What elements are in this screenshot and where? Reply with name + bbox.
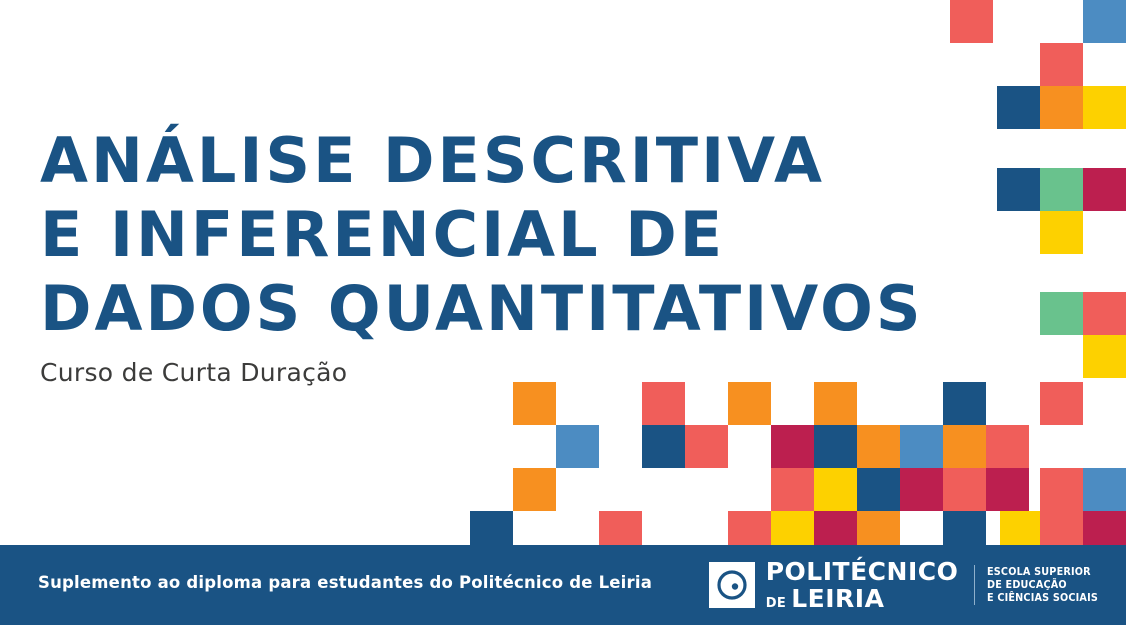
mosaic-tile (814, 468, 857, 511)
mosaic-tile (814, 425, 857, 468)
mosaic-tile (1083, 168, 1126, 211)
mosaic-tile (771, 468, 814, 511)
mosaic-tile (943, 382, 986, 425)
mosaic-tile (986, 425, 1029, 468)
mosaic-tile (943, 468, 986, 511)
title-line-2: E INFERENCIAL DE (40, 198, 1020, 272)
school-line-2: DE EDUCAÇÃO (987, 579, 1098, 592)
mosaic-tile (1040, 168, 1083, 211)
mosaic-tile (1083, 468, 1126, 511)
poster-title: ANÁLISE DESCRITIVA E INFERENCIAL DE DADO… (40, 124, 1020, 346)
logo-word-de-leiria: DE LEIRIA (766, 586, 959, 611)
school-line-1: ESCOLA SUPERIOR (987, 566, 1098, 579)
mosaic-tile (1040, 468, 1083, 511)
logo-word-de: DE (766, 597, 786, 610)
mosaic-tile (900, 468, 943, 511)
mosaic-tile (1083, 335, 1126, 378)
institution-logo: POLITÉCNICO DE LEIRIA ESCOLA SUPERIOR DE… (709, 559, 1108, 611)
mosaic-tile (900, 425, 943, 468)
mosaic-tile (513, 382, 556, 425)
mosaic-tile (857, 425, 900, 468)
mosaic-tile (986, 468, 1029, 511)
mosaic-tile (513, 468, 556, 511)
mosaic-tile (771, 425, 814, 468)
mosaic-tile (943, 425, 986, 468)
mosaic-tile (642, 382, 685, 425)
school-line-3: E CIÊNCIAS SOCIAIS (987, 592, 1098, 605)
logo-school-name: ESCOLA SUPERIOR DE EDUCAÇÃO E CIÊNCIAS S… (987, 566, 1108, 605)
poster-subtitle: Curso de Curta Duração (40, 358, 347, 387)
logo-wordmark: POLITÉCNICO DE LEIRIA (766, 559, 959, 611)
mosaic-tile (556, 425, 599, 468)
mosaic-tile (1083, 292, 1126, 335)
logo-word-politecnico: POLITÉCNICO (766, 559, 959, 584)
mosaic-tile (857, 468, 900, 511)
logo-divider (974, 565, 975, 605)
mosaic-tile (685, 425, 728, 468)
mosaic-tile (728, 382, 771, 425)
title-line-3: DADOS QUANTITATIVOS (40, 272, 1020, 346)
mosaic-tile (1040, 43, 1083, 86)
mosaic-tile (814, 382, 857, 425)
mosaic-tile (642, 425, 685, 468)
mosaic-tile (950, 0, 993, 43)
footer-caption: Suplemento ao diploma para estudantes do… (38, 573, 652, 592)
logo-word-leiria: LEIRIA (791, 586, 884, 611)
mosaic-tile (1040, 292, 1083, 335)
mosaic-tile (997, 86, 1040, 129)
footer-bar: Suplemento ao diploma para estudantes do… (0, 545, 1126, 625)
mosaic-tile (1040, 382, 1083, 425)
mosaic-tile (1040, 86, 1083, 129)
mosaic-tile (1083, 86, 1126, 129)
politecnico-leiria-circle-mark-icon (709, 562, 755, 608)
mosaic-tile (1040, 211, 1083, 254)
title-line-1: ANÁLISE DESCRITIVA (40, 124, 1020, 198)
mosaic-tile (1083, 0, 1126, 43)
poster-canvas: ANÁLISE DESCRITIVA E INFERENCIAL DE DADO… (0, 0, 1126, 625)
